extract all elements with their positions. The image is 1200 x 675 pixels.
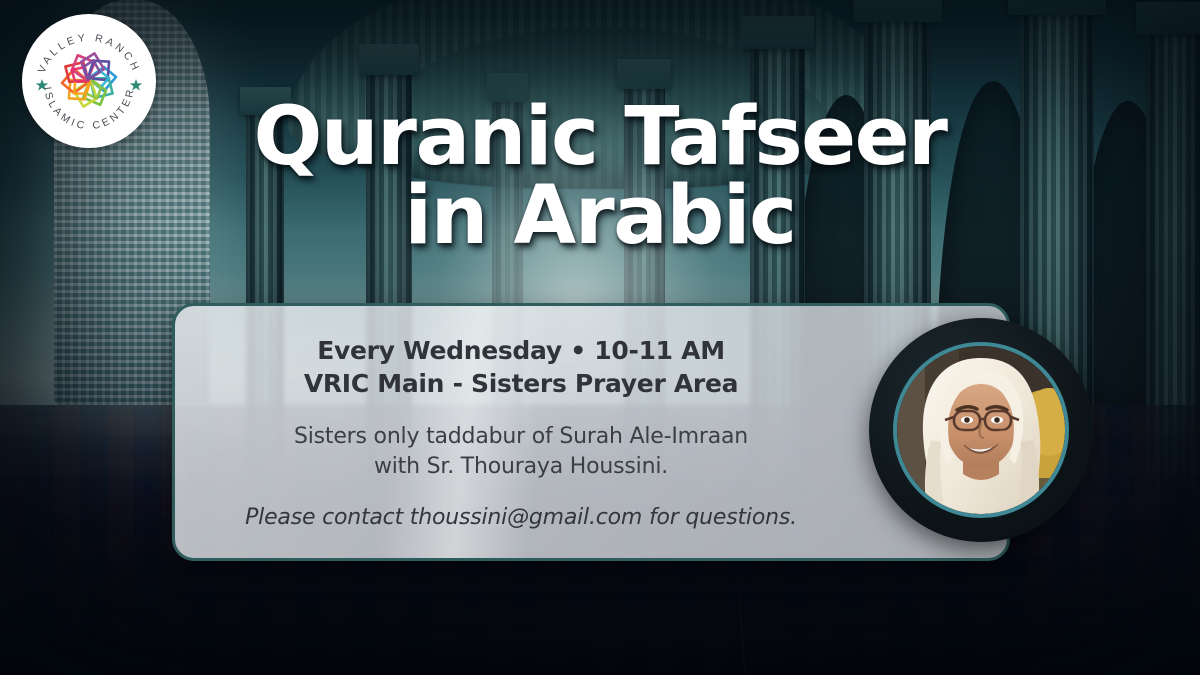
- description-line-2: with Sr. Thouraya Houssini.: [294, 452, 748, 481]
- contact-line: Please contact thoussini@gmail.com for q…: [245, 505, 797, 530]
- title-line-2: in Arabic: [0, 179, 1200, 254]
- page-title: Quranic Tafseer in Arabic: [0, 100, 1200, 253]
- schedule-line-2: VRIC Main - Sisters Prayer Area: [304, 367, 738, 400]
- description-block: Sisters only taddabur of Surah Ale-Imraa…: [294, 422, 748, 481]
- schedule-block: Every Wednesday • 10-11 AM VRIC Main - S…: [304, 334, 738, 400]
- schedule-line-1: Every Wednesday • 10-11 AM: [304, 334, 738, 367]
- portrait-photo: [897, 346, 1065, 514]
- description-line-1: Sisters only taddabur of Surah Ale-Imraa…: [294, 422, 748, 451]
- title-line-1: Quranic Tafseer: [0, 100, 1200, 175]
- event-flyer: VALLEY RANCH ISLAMIC CENTER Quranic Tafs…: [0, 0, 1200, 675]
- speaker-portrait: [869, 318, 1093, 542]
